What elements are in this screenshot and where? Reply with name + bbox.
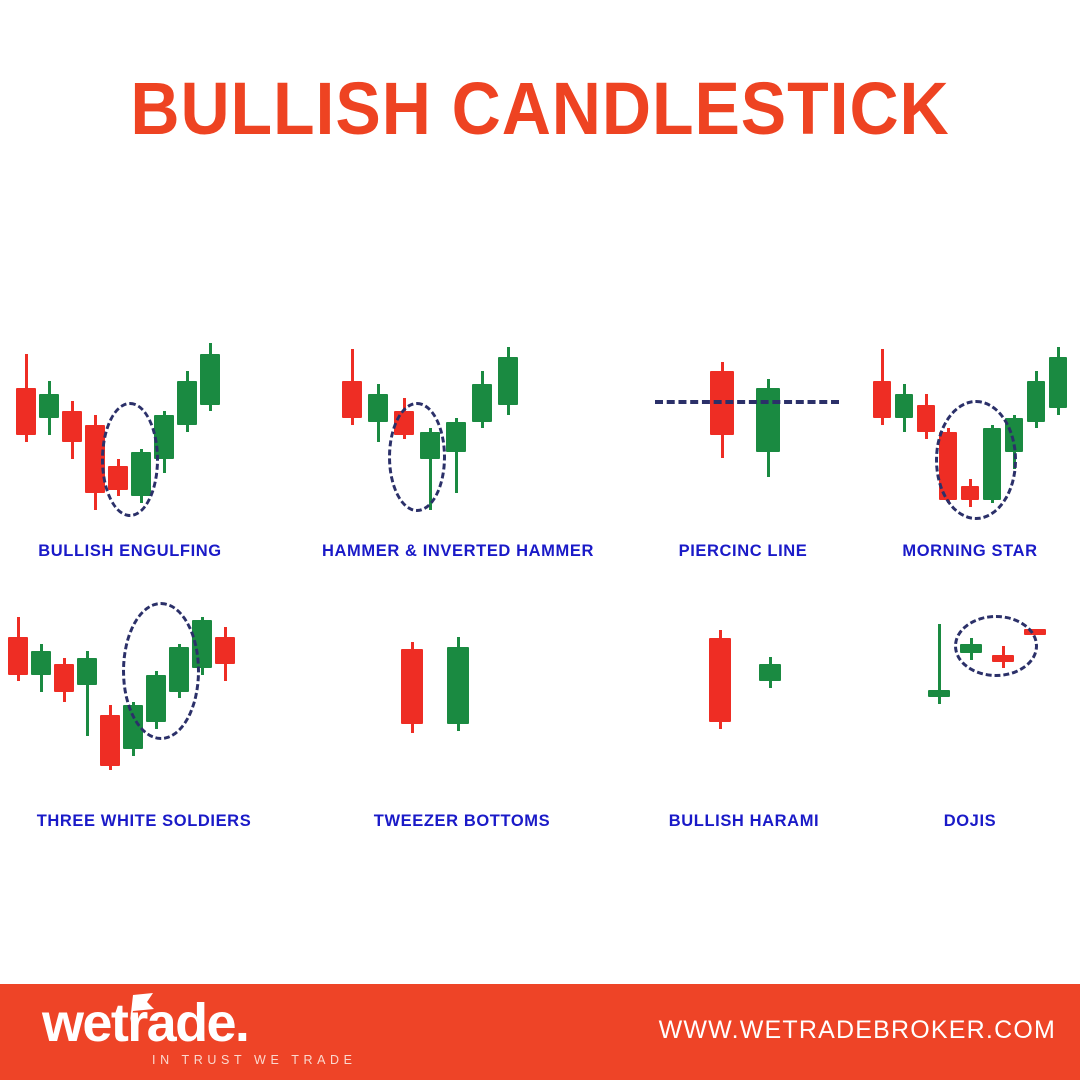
candle-bullish xyxy=(928,620,950,730)
highlight-ellipse xyxy=(935,400,1017,520)
candle-bearish xyxy=(8,610,28,780)
candle-bullish xyxy=(31,610,51,780)
pattern-label-dojis: DOJIS xyxy=(880,812,1060,831)
candle-bullish xyxy=(447,630,469,750)
candle-bullish xyxy=(895,340,913,510)
candle-body xyxy=(16,388,36,436)
pattern-label-bullish-harami: BULLISH HARAMI xyxy=(650,812,838,831)
candle-bearish xyxy=(16,340,36,510)
candle-bullish xyxy=(154,340,174,510)
candle-bearish xyxy=(54,610,74,780)
pattern-label-hammer-inverted-hammer: HAMMER & INVERTED HAMMER xyxy=(298,542,618,561)
candle-bullish xyxy=(472,340,492,510)
candle-bearish xyxy=(710,354,734,494)
highlight-ellipse xyxy=(122,602,200,740)
candle-body xyxy=(342,381,362,418)
candle-body xyxy=(928,690,950,697)
candle-bullish xyxy=(77,610,97,780)
candle-body xyxy=(62,411,82,442)
candle-bearish xyxy=(917,340,935,510)
candle-bullish xyxy=(756,354,780,494)
pattern-label-three-white-soldiers: THREE WHITE SOLDIERS xyxy=(8,812,280,831)
pattern-grid: BULLISH ENGULFINGHAMMER & INVERTED HAMME… xyxy=(0,320,1080,900)
candle-body xyxy=(447,647,469,724)
candle-bullish xyxy=(368,340,388,510)
candle-body xyxy=(756,388,780,452)
candle-bullish xyxy=(759,628,781,748)
logo-tagline: IN TRUST WE TRADE xyxy=(152,1054,357,1067)
pattern-chart xyxy=(932,620,1042,730)
infographic-page: BULLISH CANDLESTICK BULLISH ENGULFINGHAM… xyxy=(0,0,1080,1080)
candle-bearish xyxy=(100,610,120,780)
highlight-ellipse xyxy=(388,402,446,512)
pattern-label-bullish-engulfing: BULLISH ENGULFING xyxy=(10,542,250,561)
candle-bullish xyxy=(1049,340,1067,510)
candle-body xyxy=(368,394,388,421)
highlight-dashed-line xyxy=(655,400,839,404)
candle-body xyxy=(77,658,97,685)
candle-bearish xyxy=(709,628,731,748)
logo-wordmark: wetrade. xyxy=(42,996,248,1050)
candle-bullish xyxy=(498,340,518,510)
candle-body xyxy=(709,638,731,722)
pattern-chart xyxy=(880,340,1060,510)
candle-body xyxy=(100,715,120,766)
pattern-chart xyxy=(340,340,520,510)
candle-body xyxy=(54,664,74,691)
candle-body xyxy=(1027,381,1045,422)
candle-bearish xyxy=(85,340,105,510)
pattern-chart xyxy=(395,630,475,750)
candle-body xyxy=(917,405,935,432)
candle-bearish xyxy=(401,630,423,750)
candle-bullish xyxy=(39,340,59,510)
candle-bearish xyxy=(62,340,82,510)
candle-bearish xyxy=(873,340,891,510)
candle-body xyxy=(31,651,51,675)
candle-bullish xyxy=(1027,340,1045,510)
candle-bullish xyxy=(200,340,220,510)
pattern-chart xyxy=(705,354,785,494)
candle-body xyxy=(1049,357,1067,408)
website-url: WWW.WETRADEBROKER.COM xyxy=(659,1016,1056,1045)
candle-body xyxy=(39,394,59,418)
candle-bullish xyxy=(446,340,466,510)
candle-body xyxy=(200,354,220,405)
candle-bearish xyxy=(215,610,235,780)
candle-body xyxy=(873,381,891,418)
page-title: BULLISH CANDLESTICK xyxy=(43,72,1037,146)
highlight-ellipse xyxy=(954,615,1038,677)
candle-body xyxy=(177,381,197,425)
candle-body xyxy=(446,422,466,453)
pattern-chart xyxy=(710,628,780,748)
candle-bearish xyxy=(342,340,362,510)
candle-body xyxy=(401,649,423,723)
candle-body xyxy=(895,394,913,418)
pattern-label-tweezer-bottoms: TWEEZER BOTTOMS xyxy=(348,812,576,831)
candle-body xyxy=(215,637,235,664)
footer-bar: wetrade. IN TRUST WE TRADE WWW.WETRADEBR… xyxy=(0,984,1080,1080)
highlight-ellipse xyxy=(101,402,159,517)
candle-body xyxy=(472,384,492,421)
pattern-label-piercing-line: PIERCINC LINE xyxy=(650,542,836,561)
candle-body xyxy=(759,664,781,681)
candle-body xyxy=(8,637,28,674)
candle-body xyxy=(498,357,518,405)
candle-bullish xyxy=(177,340,197,510)
pattern-label-morning-star: MORNING STAR xyxy=(870,542,1070,561)
brand-logo: wetrade. IN TRUST WE TRADE xyxy=(42,992,372,1074)
pattern-chart xyxy=(18,340,218,510)
pattern-chart xyxy=(14,610,229,780)
